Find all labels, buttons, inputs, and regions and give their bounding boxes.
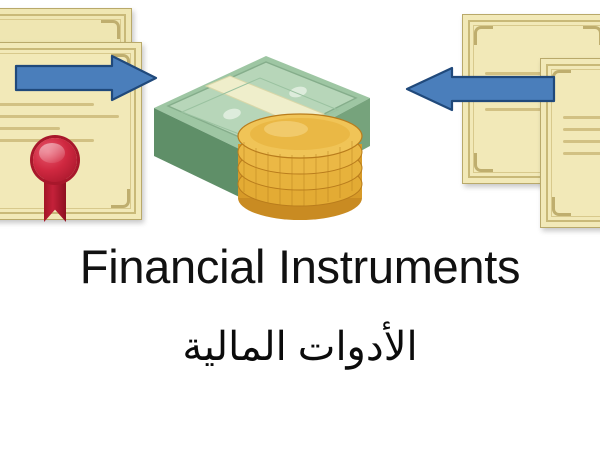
slide-canvas: Financial Instruments الأدوات المالية [0,0,600,450]
blue-left-arrow-icon [404,66,556,112]
red-ribbon-seal-icon [32,138,78,222]
page-title-english: Financial Instruments [0,243,600,290]
certificate-corner-ornament [583,26,600,45]
seal-gloss [39,143,65,163]
money-illustration [148,22,380,230]
certificate-corner-ornament [474,26,493,45]
certificate-corner-ornament [474,153,493,172]
page-title-arabic: الأدوات المالية [0,322,600,372]
certificate-corner-ornament [101,20,120,39]
blue-right-arrow-icon [14,54,158,102]
certificate-corner-ornament [552,197,571,216]
seal-rosette [33,138,77,182]
certificate-text-lines [563,116,600,164]
coin-stack [238,114,362,220]
certificate-corner-ornament [111,189,130,208]
